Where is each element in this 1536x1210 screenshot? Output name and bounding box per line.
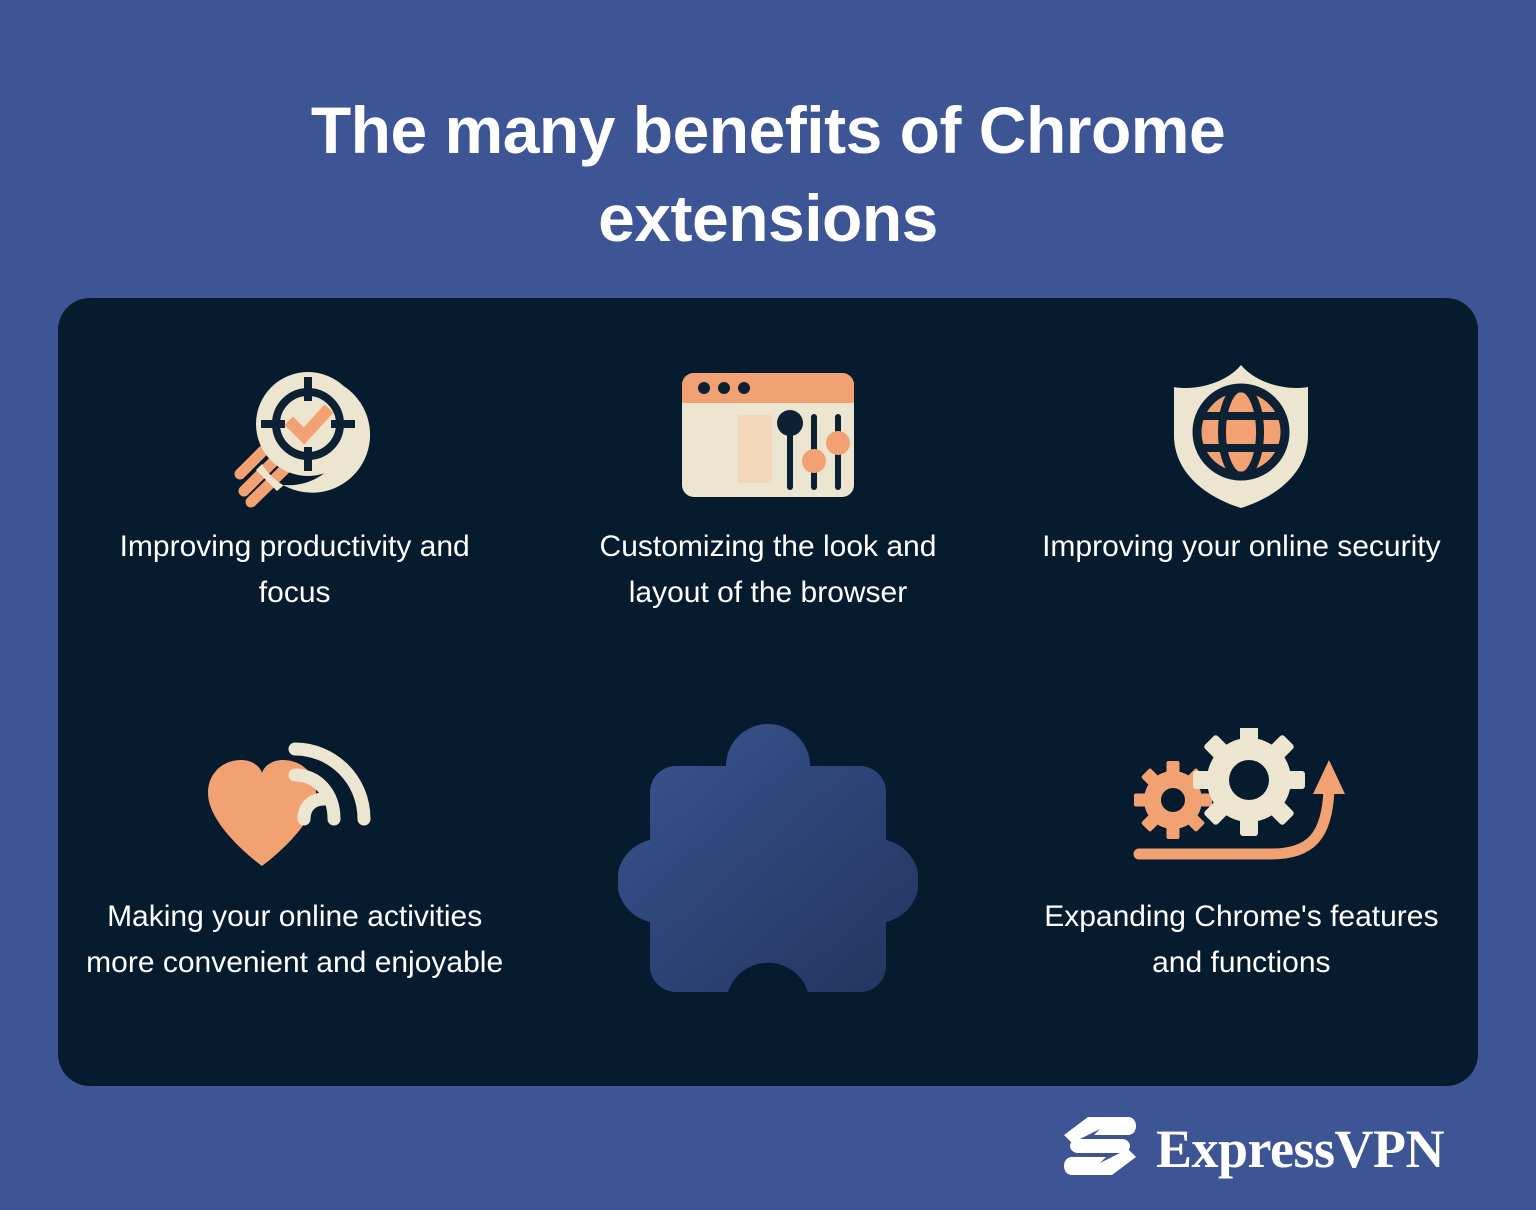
benefit-item-convenience: Making your online activities more conve… (58, 692, 531, 1086)
benefits-grid: Improving productivity and focus (58, 298, 1478, 1086)
page-title: The many benefits of Chrome extensions (0, 86, 1536, 262)
benefit-item-puzzle (531, 692, 1004, 1086)
shield-globe-icon (1168, 360, 1314, 512)
benefit-label: Improving productivity and focus (85, 524, 505, 616)
lightbulb-target-icon (220, 360, 370, 512)
benefit-item-expanding: Expanding Chrome's features and function… (1005, 692, 1478, 1086)
benefit-label: Customizing the look and layout of the b… (558, 524, 978, 616)
browser-sliders-icon (680, 360, 856, 512)
brand-logo: ExpressVPN (1064, 1115, 1444, 1182)
benefits-card: Improving productivity and focus (58, 298, 1478, 1086)
benefit-item-productivity: Improving productivity and focus (58, 298, 531, 692)
heart-signal-icon (200, 714, 390, 882)
benefit-item-security: Improving your online security (1005, 298, 1478, 692)
expressvpn-logo-icon (1064, 1115, 1136, 1182)
puzzle-piece-icon (618, 714, 918, 1014)
benefit-label: Expanding Chrome's features and function… (1031, 894, 1451, 986)
benefit-label: Making your online activities more conve… (85, 894, 505, 986)
brand-wordmark: ExpressVPN (1156, 1122, 1444, 1176)
benefit-item-customizing: Customizing the look and layout of the b… (531, 298, 1004, 692)
gears-arrow-icon (1131, 714, 1351, 882)
benefit-label: Improving your online security (1042, 524, 1441, 570)
